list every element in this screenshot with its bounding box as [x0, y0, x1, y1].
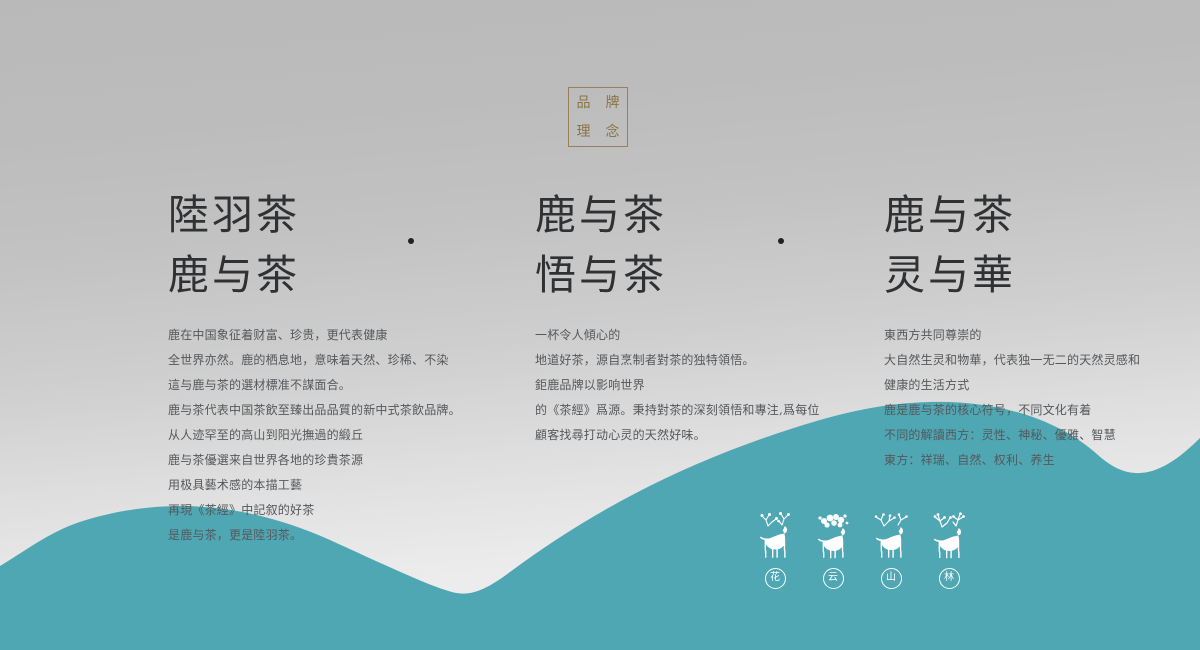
body-line: 鹿与茶代表中国茶飲至臻出品品質的新中式茶飲品牌。: [168, 398, 468, 423]
headline-line: 鹿与茶: [535, 185, 855, 245]
body-line: 的《茶經》爲源。秉持對茶的深刻領悟和專注,爲每位: [535, 398, 855, 423]
column-two-headline: 鹿与茶 悟与茶: [535, 185, 855, 305]
headline-line: 悟与茶: [535, 245, 855, 305]
headline-line: 鹿与茶: [884, 185, 1144, 245]
body-line: 鹿是鹿与茶的核心符号，不同文化有着: [884, 398, 1144, 423]
body-line: 鹿在中国象征着财富、珍贵，更代表健康: [168, 323, 468, 348]
deer-icon: [810, 512, 856, 562]
emblem-label: 云: [823, 568, 844, 589]
deer-emblem-row: 花 云: [752, 512, 972, 602]
philosophy-column-three: 鹿与茶 灵与華 東西方共同尊崇的 大自然生灵和物華，代表独一无二的天然灵感和 健…: [884, 185, 1144, 473]
column-three-headline: 鹿与茶 灵与華: [884, 185, 1144, 305]
seal-char-4: 念: [606, 125, 620, 139]
headline-line: 陸羽茶: [168, 185, 468, 245]
body-line: 从人迹罕至的高山到阳光撫過的緞丘: [168, 423, 468, 448]
body-line: 鉅鹿品牌以影响世界: [535, 373, 855, 398]
body-line: 用极具藝术感的本描工藝: [168, 473, 468, 498]
body-line: 不同的解讀西方：灵性、神秘、優雅、智慧: [884, 423, 1144, 448]
deer-emblem-mountain: 山: [868, 512, 914, 589]
brand-philosophy-page: 品 牌 理 念 陸羽茶 鹿与茶 鹿在中国象征着财富、珍贵，更代表健康 全世界亦然…: [0, 0, 1200, 650]
emblem-label: 花: [765, 568, 786, 589]
deer-emblem-flower: 花: [752, 512, 798, 589]
body-line: 一杯令人傾心的: [535, 323, 855, 348]
deer-icon: [868, 512, 914, 562]
body-line: 鹿与茶優選来自世界各地的珍貴茶源: [168, 448, 468, 473]
seal-char-1: 品: [577, 96, 591, 110]
column-three-body: 東西方共同尊崇的 大自然生灵和物華，代表独一无二的天然灵感和 健康的生活方式 鹿…: [884, 323, 1144, 473]
body-line: 東方：祥瑞、自然、权利、养生: [884, 448, 1144, 473]
philosophy-column-two: 鹿与茶 悟与茶 一杯令人傾心的 地道好茶，源自烹制者對茶的独特領悟。 鉅鹿品牌以…: [535, 185, 855, 448]
headline-line: 鹿与茶: [168, 245, 468, 305]
body-line: 東西方共同尊崇的: [884, 323, 1144, 348]
body-line: 再現《茶經》中記叙的好茶: [168, 498, 468, 523]
deer-emblem-cloud: 云: [810, 512, 856, 589]
emblem-label: 山: [881, 568, 902, 589]
body-line: 健康的生活方式: [884, 373, 1144, 398]
philosophy-columns: 陸羽茶 鹿与茶 鹿在中国象征着财富、珍贵，更代表健康 全世界亦然。鹿的栖息地，意…: [0, 185, 1200, 515]
column-two-body: 一杯令人傾心的 地道好茶，源自烹制者對茶的独特領悟。 鉅鹿品牌以影响世界 的《茶…: [535, 323, 855, 448]
body-line: 這与鹿与茶的選材標准不謀面合。: [168, 373, 468, 398]
body-line: 顧客找尋打动心灵的天然好味。: [535, 423, 855, 448]
body-line: 大自然生灵和物華，代表独一无二的天然灵感和: [884, 348, 1144, 373]
deer-icon: [926, 512, 972, 562]
body-line: 是鹿与茶，更是陸羽茶。: [168, 523, 468, 548]
column-one-headline: 陸羽茶 鹿与茶: [168, 185, 468, 305]
seal-char-2: 牌: [606, 96, 620, 110]
deer-icon: [752, 512, 798, 562]
deer-emblem-forest: 林: [926, 512, 972, 589]
philosophy-column-one: 陸羽茶 鹿与茶 鹿在中国象征着财富、珍贵，更代表健康 全世界亦然。鹿的栖息地，意…: [168, 185, 468, 548]
body-line: 地道好茶，源自烹制者對茶的独特領悟。: [535, 348, 855, 373]
seal-char-3: 理: [577, 125, 591, 139]
body-line: 全世界亦然。鹿的栖息地，意味着天然、珍稀、不染: [168, 348, 468, 373]
emblem-label: 林: [939, 568, 960, 589]
column-one-body: 鹿在中国象征着财富、珍贵，更代表健康 全世界亦然。鹿的栖息地，意味着天然、珍稀、…: [168, 323, 468, 548]
brand-philosophy-seal: 品 牌 理 念: [568, 87, 628, 147]
headline-line: 灵与華: [884, 245, 1144, 305]
